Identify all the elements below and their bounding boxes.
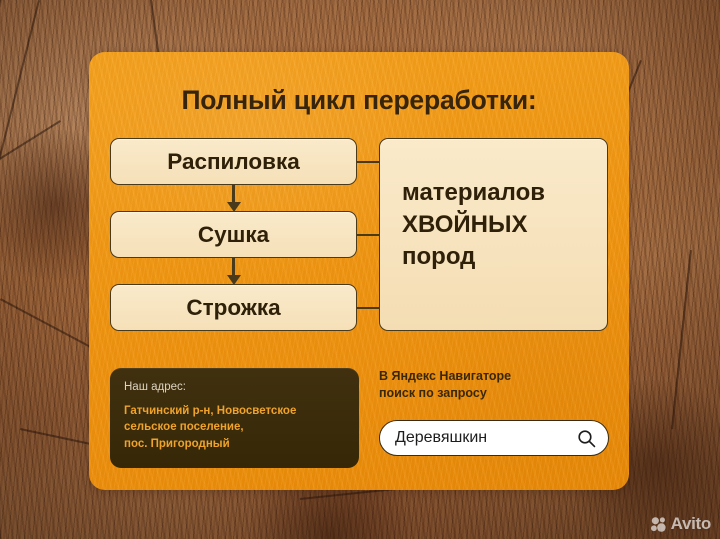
connector-line-1 — [356, 161, 380, 163]
search-icon[interactable] — [577, 429, 596, 448]
connector-line-2 — [356, 234, 380, 236]
address-label: Наш адрес: — [124, 381, 345, 393]
avito-dots-logo — [650, 516, 667, 533]
navigator-line-1: В Яндекс Навигаторе — [379, 368, 608, 385]
address-line-1: Гатчинский р-н, Новосветское — [124, 403, 345, 419]
arrow-line-2 — [232, 258, 235, 276]
search-input-container[interactable]: Деревяшкин — [379, 420, 609, 456]
arrow-line-1 — [232, 185, 235, 203]
avito-wordmark: Avito — [671, 514, 711, 534]
avito-watermark: Avito — [650, 514, 711, 534]
stage-box-drying: Сушка — [110, 211, 357, 258]
promo-card: Полный цикл переработки: Распиловка Сушк… — [89, 52, 629, 490]
material-line-2: ХВОЙНЫХ — [402, 209, 607, 241]
stage-box-planing: Строжка — [110, 284, 357, 331]
material-line-1: материалов — [402, 177, 607, 209]
address-line-2: сельское поселение, — [124, 419, 345, 435]
material-type-box: материалов ХВОЙНЫХ пород — [379, 138, 608, 331]
address-line-3: пос. Пригородный — [124, 436, 345, 452]
search-input[interactable]: Деревяшкин — [395, 429, 577, 447]
material-line-3: пород — [402, 241, 607, 273]
navigator-instructions: В Яндекс Навигаторе поиск по запросу — [379, 368, 608, 403]
navigator-line-2: поиск по запросу — [379, 385, 608, 402]
stage-box-sawing: Распиловка — [110, 138, 357, 185]
screenshot-stage: Полный цикл переработки: Распиловка Сушк… — [0, 0, 720, 539]
address-panel: Наш адрес: Гатчинский р-н, Новосветское … — [110, 368, 359, 468]
connector-line-3 — [356, 307, 380, 309]
